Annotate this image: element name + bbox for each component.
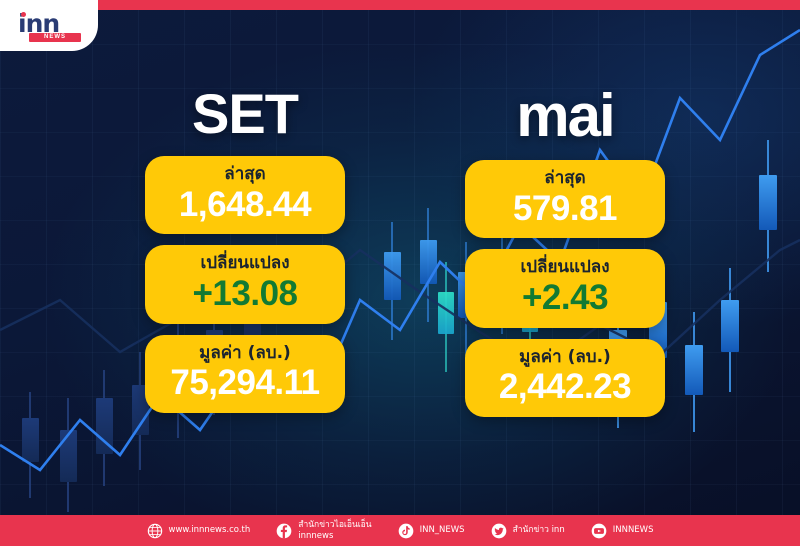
tiktok-icon xyxy=(398,523,414,539)
twitter-icon xyxy=(491,523,507,539)
youtube-icon xyxy=(591,523,607,539)
footer-label: www.innnews.co.th xyxy=(169,525,251,535)
stat-value: 2,442.23 xyxy=(473,368,657,406)
footer-label: INNNEWS xyxy=(613,525,654,535)
footer-label: สำนักข่าว inn xyxy=(513,525,565,535)
footer-line1: INN_NEWS xyxy=(420,525,465,535)
footer-line2: innnews xyxy=(298,531,371,541)
facebook-icon xyxy=(276,523,292,539)
footer-item-website[interactable]: www.innnews.co.th xyxy=(147,523,251,539)
footer-item-tiktok[interactable]: INN_NEWS xyxy=(398,523,465,539)
footer-line1: INNNEWS xyxy=(613,525,654,535)
stat-value: 1,648.44 xyxy=(153,186,337,224)
footer-social-bar: www.innnews.co.th สำนักข่าวไอเอ็นเอ็น in… xyxy=(0,515,800,546)
stat-label: เปลี่ยนแปลง xyxy=(473,258,657,278)
logo-dot-icon xyxy=(21,12,26,17)
stat-value: 579.81 xyxy=(473,190,657,228)
index-name-mai: mai xyxy=(465,86,665,146)
footer-line1: สำนักข่าว inn xyxy=(513,525,565,535)
footer-item-youtube[interactable]: INNNEWS xyxy=(591,523,654,539)
footer-line1: www.innnews.co.th xyxy=(169,525,251,535)
footer-label: INN_NEWS xyxy=(420,525,465,535)
stat-label: ล่าสุด xyxy=(153,165,337,185)
logo-wordmark: inn xyxy=(18,13,84,35)
logo-news-badge: NEWS xyxy=(29,33,81,42)
stat-label: เปลี่ยนแปลง xyxy=(153,254,337,274)
stat-card-mai-value: มูลค่า (ลบ.) 2,442.23 xyxy=(465,339,665,417)
infographic-canvas: inn NEWS SET ล่าสุด 1,648.44 เปลี่ยนแปลง… xyxy=(0,0,800,546)
inn-news-logo: inn NEWS xyxy=(18,13,84,43)
stat-card-mai-change: เปลี่ยนแปลง +2.43 xyxy=(465,249,665,327)
footer-item-twitter[interactable]: สำนักข่าว inn xyxy=(491,523,565,539)
stat-label: ล่าสุด xyxy=(473,169,657,189)
index-column-mai: mai ล่าสุด 579.81 เปลี่ยนแปลง +2.43 มูลค… xyxy=(465,86,665,428)
brand-logo-tab: inn NEWS xyxy=(0,0,98,51)
stat-card-mai-last: ล่าสุด 579.81 xyxy=(465,160,665,238)
index-column-set: SET ล่าสุด 1,648.44 เปลี่ยนแปลง +13.08 ม… xyxy=(145,86,345,424)
background-stock-chart xyxy=(0,0,800,546)
footer-line1: สำนักข่าวไอเอ็นเอ็น xyxy=(298,520,371,530)
stat-card-set-value: มูลค่า (ลบ.) 75,294.11 xyxy=(145,335,345,413)
stat-label: มูลค่า (ลบ.) xyxy=(473,348,657,368)
stat-value: +2.43 xyxy=(473,279,657,317)
stat-card-set-change: เปลี่ยนแปลง +13.08 xyxy=(145,245,345,323)
stat-value: 75,294.11 xyxy=(153,364,337,402)
index-name-set: SET xyxy=(145,86,345,142)
stat-value: +13.08 xyxy=(153,275,337,313)
footer-item-facebook[interactable]: สำนักข่าวไอเอ็นเอ็น innnews xyxy=(276,520,371,541)
stat-label: มูลค่า (ลบ.) xyxy=(153,344,337,364)
footer-label: สำนักข่าวไอเอ็นเอ็น innnews xyxy=(298,520,371,541)
top-accent-bar xyxy=(0,0,800,10)
stat-card-set-last: ล่าสุด 1,648.44 xyxy=(145,156,345,234)
globe-icon xyxy=(147,523,163,539)
